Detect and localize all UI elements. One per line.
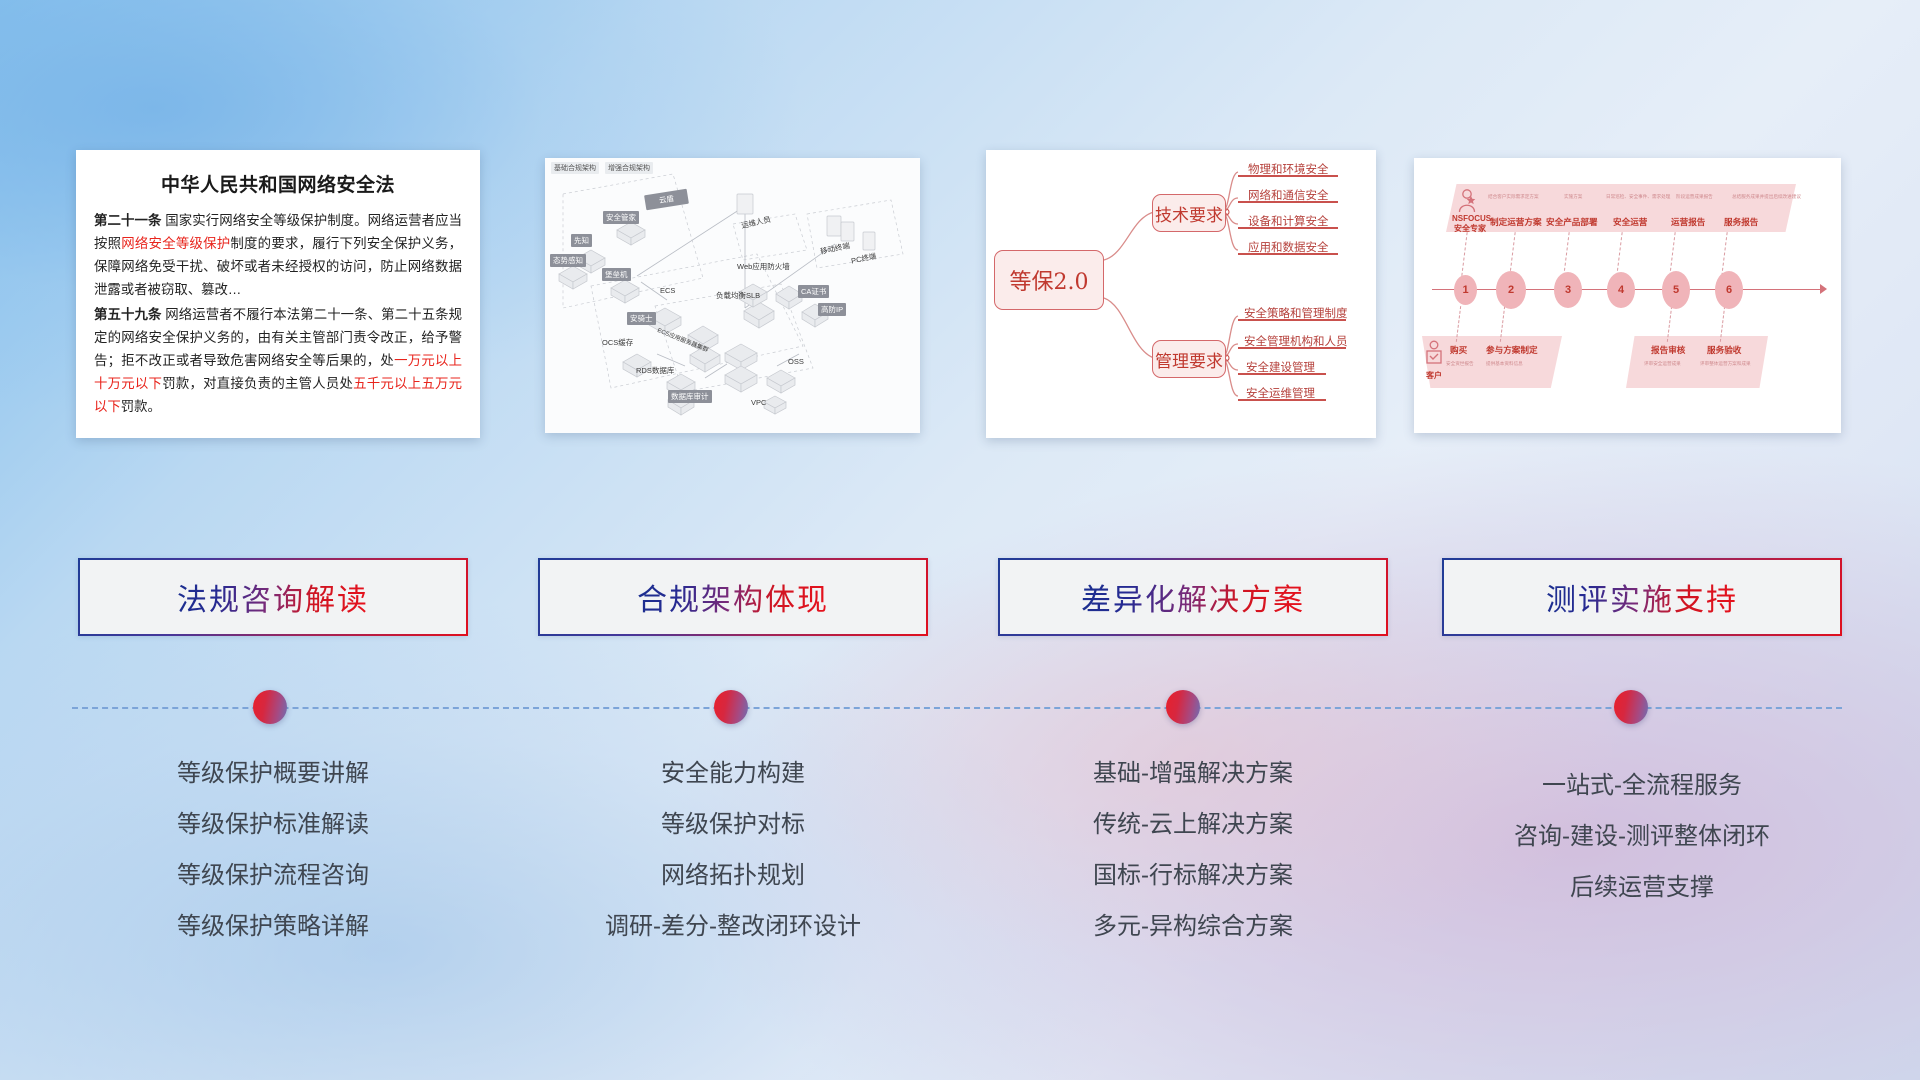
mindmap-leaf-device-compute: 设备和计算安全 xyxy=(1248,213,1329,229)
node-ocs-cache: OCS缓存 xyxy=(599,336,636,349)
architecture-diagram: 基础合规架构 增强合规架构 xyxy=(545,158,920,433)
list-item: 多元-异构综合方案 xyxy=(998,901,1388,952)
timeline-node-4[interactable] xyxy=(1614,690,1648,724)
customer-step-title-1: 购买 xyxy=(1450,344,1467,356)
list-item: 一站式-全流程服务 xyxy=(1442,760,1842,811)
list-item: 等级保护对标 xyxy=(538,799,928,850)
node-slb: 负载均衡SLB xyxy=(713,289,763,302)
list-item: 等级保护流程咨询 xyxy=(78,850,468,901)
node-rds-db: RDS数据库 xyxy=(633,364,677,377)
article-59-text-c: 罚款。 xyxy=(121,399,161,414)
node-security-butler: 安全管家 xyxy=(603,211,639,224)
customer-step-title-3: 报告审核 xyxy=(1651,344,1685,356)
mindmap-leaf-ops-mgmt: 安全运维管理 xyxy=(1246,385,1315,401)
feature-list-3: 基础-增强解决方案 传统-云上解决方案 国标-行标解决方案 多元-异构综合方案 xyxy=(998,748,1388,952)
timeline-node-1[interactable] xyxy=(253,690,287,724)
timeline-marker-5[interactable]: 5 xyxy=(1662,271,1690,309)
article-21-highlight: 网络安全等级保护 xyxy=(121,236,230,251)
customer-step-sub-4: 评审整体运营方案和成果 xyxy=(1700,361,1751,367)
law-body: 中华人民共和国网络安全法 第二十一条 国家实行网络安全等级保护制度。网络运营者应… xyxy=(76,150,480,438)
timeline-marker-1[interactable]: 1 xyxy=(1454,275,1477,305)
article-21-label: 第二十一条 xyxy=(94,213,161,228)
step-sub-1: 结合客户实际需求定方案 xyxy=(1488,194,1539,200)
timeline-dashed-line xyxy=(72,707,1842,709)
law-article-21: 第二十一条 国家实行网络安全等级保护制度。网络运营者应当按照网络安全等级保护制度… xyxy=(94,209,462,301)
feature-list-2: 安全能力构建 等级保护对标 网络拓扑规划 调研-差分-整改闭环设计 xyxy=(538,748,928,952)
node-vpc: VPC xyxy=(748,397,769,408)
mindmap-leaf-network-comm: 网络和通信安全 xyxy=(1248,187,1329,203)
mindmap-root: 等保2.0 xyxy=(994,250,1104,310)
step-title-4: 运营报告 xyxy=(1671,216,1705,228)
node-xianzhi: 先知 xyxy=(571,234,592,247)
customer-icon xyxy=(1424,340,1444,368)
leader-line-5 xyxy=(1669,232,1675,276)
leader-line-2 xyxy=(1509,232,1515,276)
leader-line-3 xyxy=(1563,232,1569,276)
node-oss: OSS xyxy=(785,356,807,367)
section-title-box-4[interactable]: 测评实施支持 xyxy=(1442,558,1842,636)
node-ecs: ECS xyxy=(657,285,678,296)
node-anti-ddos-ip: 高防IP xyxy=(818,303,846,316)
step-sub-2: 实施方案 xyxy=(1564,194,1582,200)
card-mindmap-dengbao[interactable]: 等保2.0 技术要求 管理要求 物理和环境安全 网络和通信安全 设备和计算安全 … xyxy=(986,150,1376,438)
feature-list-4: 一站式-全流程服务 咨询-建设-测评整体闭环 后续运营支撑 xyxy=(1442,760,1842,913)
provider-name: NSFOCUS xyxy=(1452,214,1491,223)
mindmap-branch-management: 管理要求 xyxy=(1152,340,1226,378)
timeline-marker-3[interactable]: 3 xyxy=(1554,272,1582,308)
customer-name: 客户 xyxy=(1426,370,1442,381)
section-title-box-3[interactable]: 差异化解决方案 xyxy=(998,558,1388,636)
customer-step-sub-3: 评审安全运营成果 xyxy=(1644,361,1681,367)
card-cybersecurity-law[interactable]: 中华人民共和国网络安全法 第二十一条 国家实行网络安全等级保护制度。网络运营者应… xyxy=(76,150,480,438)
list-item: 等级保护策略详解 xyxy=(78,901,468,952)
section-title-box-2[interactable]: 合规架构体现 xyxy=(538,558,928,636)
list-item: 国标-行标解决方案 xyxy=(998,850,1388,901)
section-title-box-1[interactable]: 法规咨询解读 xyxy=(78,558,468,636)
section-title-3: 差异化解决方案 xyxy=(1081,575,1305,619)
step-title-2: 安全产品部署 xyxy=(1546,216,1598,228)
mindmap-leaf-org-personnel: 安全管理机构和人员 xyxy=(1244,333,1348,349)
node-db-audit: 数据库审计 xyxy=(668,390,712,403)
step-title-1: 制定运营方案 xyxy=(1490,216,1542,228)
article-59-label: 第五十九条 xyxy=(94,307,161,322)
section-title-1: 法规咨询解读 xyxy=(177,575,369,619)
timeline-node-2[interactable] xyxy=(714,690,748,724)
timeline-marker-2[interactable]: 2 xyxy=(1496,271,1526,309)
mindmap-leaf-policy-system: 安全策略和管理制度 xyxy=(1244,305,1348,321)
customer-step-title-2: 参与方案制定 xyxy=(1486,344,1538,356)
slide-stage: 中华人民共和国网络安全法 第二十一条 国家实行网络安全等级保护制度。网络运营者应… xyxy=(0,0,1920,1080)
step-sub-3: 日常巡检、安全事件、需求处理 xyxy=(1606,194,1670,200)
law-title: 中华人民共和国网络安全法 xyxy=(94,170,462,197)
timeline-arrow-icon xyxy=(1820,284,1827,294)
list-item: 网络拓扑规划 xyxy=(538,850,928,901)
step-sub-5: 总结服务成果并提出后续改进建议 xyxy=(1732,194,1801,200)
timeline-marker-6[interactable]: 6 xyxy=(1715,271,1743,309)
customer-step-title-4: 服务验收 xyxy=(1707,344,1741,356)
mindmap: 等保2.0 技术要求 管理要求 物理和环境安全 网络和通信安全 设备和计算安全 … xyxy=(986,150,1376,438)
step-sub-4: 阶段运营成果报告 xyxy=(1676,194,1713,200)
step-title-3: 安全运营 xyxy=(1613,216,1647,228)
leader-line-1 xyxy=(1461,232,1467,276)
mindmap-leaf-physical-env: 物理和环境安全 xyxy=(1248,161,1329,177)
list-item: 基础-增强解决方案 xyxy=(998,748,1388,799)
node-anqishi: 安骑士 xyxy=(627,312,656,325)
feature-list-1: 等级保护概要讲解 等级保护标准解读 等级保护流程咨询 等级保护策略详解 xyxy=(78,748,468,952)
mindmap-leaf-construction-mgmt: 安全建设管理 xyxy=(1246,359,1315,375)
list-item: 咨询-建设-测评整体闭环 xyxy=(1442,811,1842,862)
section-title-2: 合规架构体现 xyxy=(637,575,829,619)
customer-step-sub-1: 安全资世报告 xyxy=(1446,361,1474,367)
mindmap-branch-technical: 技术要求 xyxy=(1152,194,1226,232)
leader-line-4 xyxy=(1616,232,1622,276)
list-item: 等级保护概要讲解 xyxy=(78,748,468,799)
node-waf: Web应用防火墙 xyxy=(734,260,793,273)
list-item: 后续运营支撑 xyxy=(1442,862,1842,913)
timeline-node-3[interactable] xyxy=(1166,690,1200,724)
node-ca-certificate: CA证书 xyxy=(798,285,829,298)
customer-step-sub-2: 提供基本资料信息 xyxy=(1486,361,1523,367)
card-cloud-architecture[interactable]: 基础合规架构 增强合规架构 xyxy=(545,158,920,433)
mindmap-leaf-app-data: 应用和数据安全 xyxy=(1248,239,1329,255)
list-item: 调研-差分-整改闭环设计 xyxy=(538,901,928,952)
provider-role: 安全专家 xyxy=(1454,223,1486,234)
expert-icon xyxy=(1456,188,1478,214)
article-59-text-b: 罚款，对直接负责的主管人员处 xyxy=(162,376,353,391)
list-item: 安全能力构建 xyxy=(538,748,928,799)
timeline-marker-4[interactable]: 4 xyxy=(1607,272,1635,308)
list-item: 等级保护标准解读 xyxy=(78,799,468,850)
section-title-4: 测评实施支持 xyxy=(1546,575,1738,619)
process-timeline: NSFOCUS 安全专家 客户 结合客户实际需求定方案 实施方案 日常巡检、安全… xyxy=(1414,158,1841,433)
list-item: 传统-云上解决方案 xyxy=(998,799,1388,850)
law-article-59: 第五十九条 网络运营者不履行本法第二十一条、第二十五条规定的网络安全保护义务的，… xyxy=(94,303,462,418)
leader-line-6 xyxy=(1721,232,1727,276)
node-situation-awareness: 态势感知 xyxy=(550,254,586,267)
step-title-5: 服务报告 xyxy=(1724,216,1758,228)
card-service-process[interactable]: NSFOCUS 安全专家 客户 结合客户实际需求定方案 实施方案 日常巡检、安全… xyxy=(1414,158,1841,433)
node-bastion-host: 堡垒机 xyxy=(602,268,631,281)
